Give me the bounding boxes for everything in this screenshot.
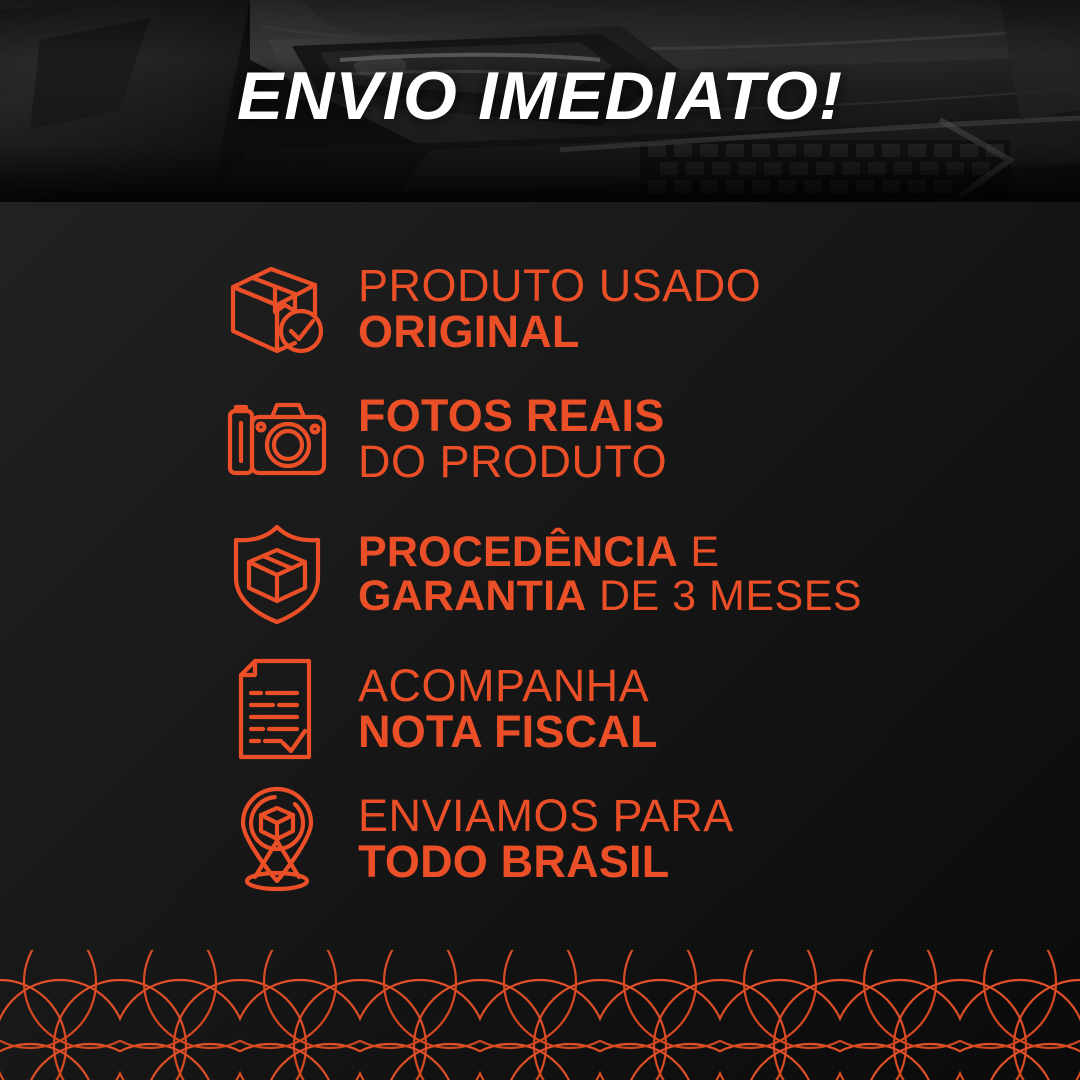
- invoice-document-icon: [222, 657, 332, 761]
- feature-list: PRODUTO USADO ORIGINAL: [222, 244, 1052, 904]
- feature-item-todo-brasil: ENVIAMOS PARA TODO BRASIL: [222, 774, 1052, 904]
- feature-text: PROCEDÊNCIA E GARANTIA DE 3 MESES: [358, 530, 862, 619]
- feature-line-2: TODO BRASIL: [358, 839, 734, 885]
- feature-line-1-bold: PROCEDÊNCIA: [358, 528, 678, 576]
- feature-line-1-light: E: [678, 528, 720, 576]
- feature-line-1: FOTOS REAIS: [358, 393, 667, 439]
- promo-banner: ENVIO IMEDIATO! PRODUTO USADO ORIGINAL: [0, 0, 1080, 1080]
- box-check-icon: [222, 259, 332, 359]
- feature-item-nota-fiscal: ACOMPANHA NOTA FISCAL: [222, 644, 1052, 774]
- map-pin-box-icon: [222, 785, 332, 893]
- flower-of-life-border-pattern: [0, 950, 1080, 1080]
- feature-line-2: ORIGINAL: [358, 309, 761, 355]
- feature-line-2: DO PRODUTO: [358, 439, 667, 485]
- hero-title: ENVIO IMEDIATO!: [0, 62, 1080, 130]
- feature-item-garantia: PROCEDÊNCIA E GARANTIA DE 3 MESES: [222, 504, 1052, 644]
- feature-item-produto-original: PRODUTO USADO ORIGINAL: [222, 244, 1052, 374]
- shield-box-icon: [222, 522, 332, 626]
- feature-text: FOTOS REAIS DO PRODUTO: [358, 393, 667, 486]
- feature-line-1: ACOMPANHA: [358, 663, 658, 709]
- feature-line-1: PRODUTO USADO: [358, 263, 761, 309]
- feature-line-2-light: DE 3 MESES: [587, 572, 863, 620]
- feature-line-1: ENVIAMOS PARA: [358, 793, 734, 839]
- feature-item-fotos-reais: FOTOS REAIS DO PRODUTO: [222, 374, 1052, 504]
- feature-text: ACOMPANHA NOTA FISCAL: [358, 663, 658, 756]
- feature-text: PRODUTO USADO ORIGINAL: [358, 263, 761, 356]
- camera-icon: [222, 395, 332, 483]
- feature-line-2: GARANTIA DE 3 MESES: [358, 574, 862, 618]
- feature-line-1: PROCEDÊNCIA E: [358, 530, 862, 574]
- feature-line-2: NOTA FISCAL: [358, 709, 658, 755]
- feature-line-2-bold: GARANTIA: [358, 572, 587, 620]
- feature-text: ENVIAMOS PARA TODO BRASIL: [358, 793, 734, 886]
- hero-section: ENVIO IMEDIATO!: [0, 0, 1080, 202]
